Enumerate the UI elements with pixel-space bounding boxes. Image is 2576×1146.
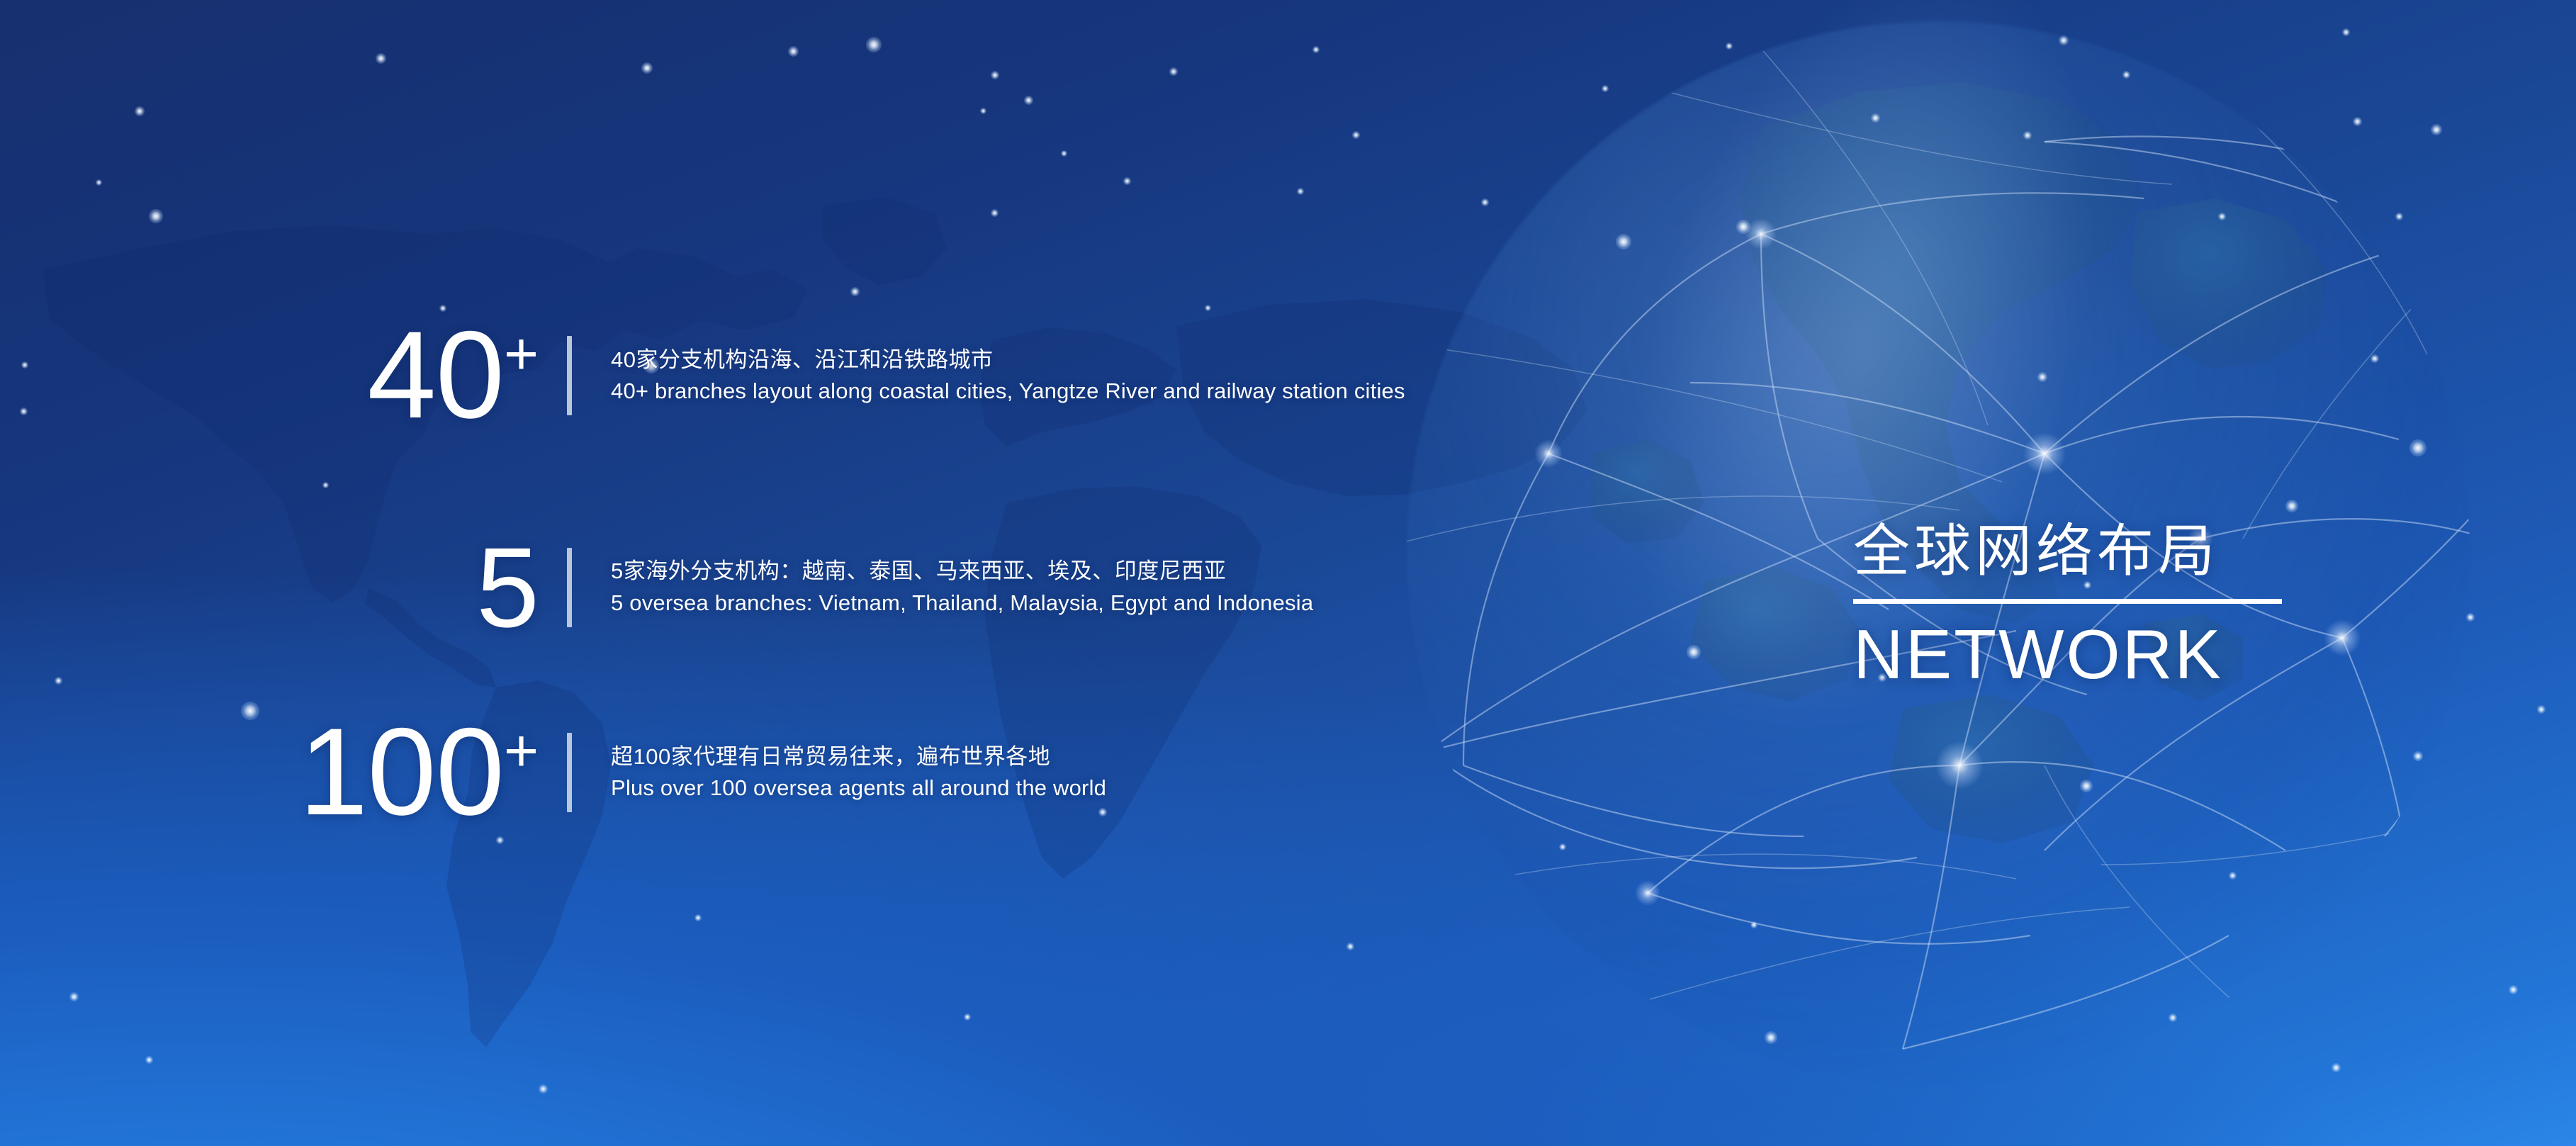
stat-divider xyxy=(567,733,572,812)
stat-divider xyxy=(567,548,572,627)
stat-number: 40+ xyxy=(367,322,539,429)
statistics-list: 40+ 40家分支机构沿海、沿江和沿铁路城市 40+ branches layo… xyxy=(0,0,1630,1146)
section-title-cn: 全球网络布局 xyxy=(1853,521,2293,582)
stat-number-value: 100 xyxy=(299,703,504,841)
stat-number-value: 40 xyxy=(367,306,504,444)
stat-number-suffix: + xyxy=(504,320,539,387)
stat-number-cell: 40+ xyxy=(0,322,567,429)
section-title-block: 全球网络布局 NETWORK xyxy=(1853,521,2293,689)
stat-row-oversea-branches: 5 5家海外分支机构：越南、泰国、马来西亚、埃及、印度尼西亚 5 oversea… xyxy=(0,539,1313,636)
stat-text-en: 5 oversea branches: Vietnam, Thailand, M… xyxy=(611,588,1313,619)
stat-text-en: 40+ branches layout along coastal cities… xyxy=(611,376,1405,407)
stat-number-value: 5 xyxy=(476,524,539,651)
stat-row-agents: 100+ 超100家代理有日常贸易往来，遍布世界各地 Plus over 100… xyxy=(0,719,1106,826)
stat-text-cn: 超100家代理有日常贸易往来，遍布世界各地 xyxy=(611,741,1106,773)
stat-number-suffix: + xyxy=(504,717,539,784)
global-network-banner: 40+ 40家分支机构沿海、沿江和沿铁路城市 40+ branches layo… xyxy=(0,0,2576,1146)
stat-text-cell: 超100家代理有日常贸易往来，遍布世界各地 Plus over 100 over… xyxy=(572,741,1106,804)
stat-text-cell: 40家分支机构沿海、沿江和沿铁路城市 40+ branches layout a… xyxy=(572,344,1405,408)
section-title-en: NETWORK xyxy=(1853,619,2293,689)
stat-number-cell: 5 xyxy=(0,539,567,636)
stat-number: 5 xyxy=(476,539,539,636)
stat-text-cn: 5家海外分支机构：越南、泰国、马来西亚、埃及、印度尼西亚 xyxy=(611,556,1313,587)
stat-number: 100+ xyxy=(299,719,539,826)
stat-number-cell: 100+ xyxy=(0,719,567,826)
stat-text-cell: 5家海外分支机构：越南、泰国、马来西亚、埃及、印度尼西亚 5 oversea b… xyxy=(572,556,1313,619)
title-underline-rule xyxy=(1853,599,2282,604)
stat-divider xyxy=(567,336,572,415)
stat-text-en: Plus over 100 oversea agents all around … xyxy=(611,773,1106,804)
stat-text-cn: 40家分支机构沿海、沿江和沿铁路城市 xyxy=(611,344,1405,376)
stat-row-branches: 40+ 40家分支机构沿海、沿江和沿铁路城市 40+ branches layo… xyxy=(0,322,1405,429)
